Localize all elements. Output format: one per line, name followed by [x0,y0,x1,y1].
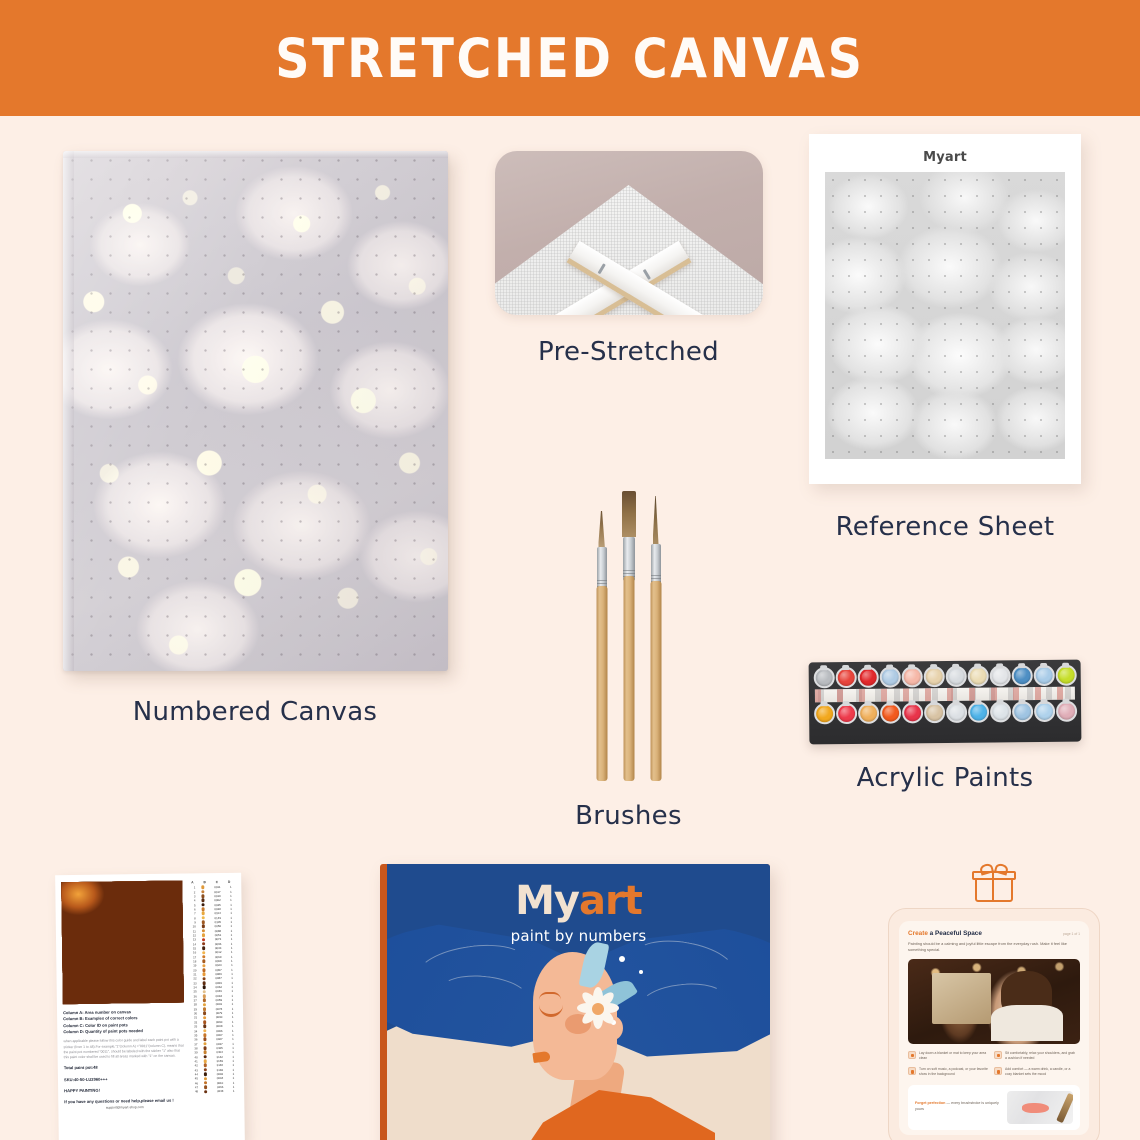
page-title: STRETCHED CANVAS [275,27,864,90]
paint-pot [989,701,1010,722]
box-front-face: Myart paint by numbers [387,864,770,1140]
paint-pot [858,703,879,724]
daisy-center [592,1003,604,1015]
pdf-title-rest: a Peaceful Space [928,930,982,937]
logo-art-text: art [579,878,642,924]
legend-color-swatch [198,929,209,933]
legend-quantity: 1 [229,1089,238,1093]
paint-pot [1033,665,1054,686]
paint-pot [1011,701,1032,722]
product-contents-grid: Numbered Canvas Pre-Stretched Myart Refe… [0,116,1140,1140]
item-numbered-canvas: Numbered Canvas [55,151,455,727]
box-tagline: paint by numbers [387,927,770,945]
paint-row-top [813,665,1077,689]
legend-color-swatch [200,1077,211,1081]
grayscale-pumpkin-art [825,172,1065,459]
paint-pot [1055,701,1076,722]
brush-handle [596,586,607,781]
brush-handle [650,581,661,781]
item-myart-box: Myart paint by numbers [375,864,775,1140]
sku-code: SKU:40-50-LU2960+++ [64,1075,185,1083]
tip-text: Lay down a blanket or mat to keep your a… [919,1051,990,1061]
eyebrow [539,992,561,1000]
legend-color-swatch [197,890,208,894]
paint-swatch [1022,1103,1050,1113]
legend-header-c: C [211,880,223,884]
paint-pot [1011,665,1032,686]
item-pre-stretched: Pre-Stretched [486,151,771,367]
reference-sheet-paper: Myart [809,134,1081,484]
legend-color-swatch [198,959,209,963]
legend-color-swatch [199,977,210,981]
legend-color-swatch [199,985,210,989]
pdf-page-title: Create a Peaceful Space [908,930,982,937]
item-reference-sheet: Myart Reference Sheet [800,134,1090,542]
legend-color-swatch [198,907,209,911]
paint-pot [946,702,967,723]
legend-color-swatch [199,1003,210,1007]
pdf-tips-list: Lay down a blanket or mat to keep your a… [908,1051,1080,1083]
tip-text: Turn on soft music, a podcast, or your f… [919,1067,990,1077]
pre-stretched-photo [495,151,763,315]
pdf-note-thumbnail [1007,1091,1073,1124]
label-reference-sheet: Reference Sheet [800,512,1090,542]
color-card-paper: Column A: Area number on canvas Column B… [55,873,245,1140]
legend-color-swatch [198,972,209,976]
header-banner: STRETCHED CANVAS [0,0,1140,116]
legend-header-row: A B C D [186,880,235,885]
legend-color-swatch [200,1068,211,1072]
legend-color-swatch [197,894,208,898]
item-acrylic-paints: Acrylic Paints [800,661,1090,793]
legend-header-b: B [198,880,210,884]
pdf-intro-text: Painting should be a calming and joyful … [908,941,1080,953]
item-pdf-guide: Create a Peaceful Space page 1 of 1 Pain… [878,864,1110,1140]
legend-color-swatch [199,998,210,1002]
legend-color-swatch [198,912,209,916]
paint-tray [809,660,1082,745]
sparkle-dot [619,956,625,962]
myart-logo-text: Myart [825,150,1065,165]
label-brushes: Brushes [486,801,771,831]
legend-color-swatch [199,1020,210,1024]
label-acrylic-paints: Acrylic Paints [800,763,1090,793]
pdf-tip: Turn on soft music, a podcast, or your f… [908,1067,994,1077]
legend-color-swatch [200,1085,211,1089]
paint-pot [857,667,878,688]
staple-icon [642,269,650,280]
legend-color-swatch [199,1038,210,1042]
item-brushes: Brushes [486,496,771,831]
pdf-photo-painter [908,959,1080,1044]
pdf-page-number: page 1 of 1 [1063,932,1080,936]
legend-color-id: 3248 [211,1089,229,1093]
legend-color-swatch [198,951,209,955]
legend-color-swatch [198,955,209,959]
legend-header-a: A [186,880,198,884]
legend-color-swatch [198,942,209,946]
legend-color-swatch [199,1042,210,1046]
legend-color-swatch [198,946,209,950]
color-card-notes: Column A: Area number on canvas Column B… [63,1009,185,1112]
legend-color-swatch [199,990,210,994]
paint-pot [836,703,857,724]
tip-icon [994,1051,1002,1059]
paint-pot [967,702,988,723]
legend-color-swatch [200,1059,211,1063]
paint-pot [880,702,901,723]
legend-color-swatch [199,1012,210,1016]
brush-round-small [596,496,607,781]
pdf-title-accent: Create [908,930,928,937]
legend-color-swatch [200,1081,211,1085]
staple-icon [597,263,605,274]
paint-pot [879,666,900,687]
legend-row: 4832481 [189,1089,238,1094]
brush-ferrule [651,544,661,586]
legend-color-swatch [198,920,209,924]
total-paint-pots: Total paint pot:48 [64,1064,185,1072]
paint-pot [835,667,856,688]
legend-color-swatch [198,925,209,929]
legend-color-swatch [199,1007,210,1011]
legend-area-number: 48 [189,1090,200,1094]
paint-pot [924,702,945,723]
tip-icon [908,1067,916,1075]
brush-liner [650,496,661,781]
pdf-header: Create a Peaceful Space page 1 of 1 [908,930,1080,937]
tip-text: Sit comfortably, relax your shoulders, a… [1005,1051,1076,1061]
paint-pot [813,667,834,688]
pdf-note-text: Forget perfection — every brushstroke is… [915,1101,1001,1112]
legend-rows: 1001112001713001914000215002516002817010… [186,885,238,1094]
legend-color-swatch [197,899,208,903]
pdf-tip: Sit comfortably, relax your shoulders, a… [994,1051,1080,1061]
brush-ferrule [623,537,635,581]
box-logo: Myart paint by numbers [387,881,770,945]
paint-pot [902,702,923,723]
legend-color-swatch [200,1051,211,1055]
pumpkin-reference-photo [61,881,184,1005]
legend-color-swatch [199,994,210,998]
brush-icon [1056,1093,1073,1123]
pdf-note-accent: Forget perfection [915,1101,945,1105]
legend-color-swatch [200,1064,211,1068]
paint-pot [989,665,1010,686]
brush-handle [623,576,634,781]
gift-icon [972,864,1016,902]
legend-color-swatch [198,933,209,937]
paint-pot [1033,701,1054,722]
color-card-legend: A B C D 10011120017130019140002150025160… [186,880,239,1137]
legend-color-swatch [199,1033,210,1037]
paint-pot [945,666,966,687]
paint-pot [814,703,835,724]
legend-color-swatch [199,1029,210,1033]
legend-color-swatch [198,964,209,968]
tip-icon [908,1051,916,1059]
paint-pot [967,666,988,687]
tip-text: Add comfort — a warm drink, a candle, or… [1005,1067,1076,1077]
label-numbered-canvas: Numbered Canvas [55,697,455,727]
brushes-image [569,496,689,781]
legend-color-swatch [199,1025,210,1029]
paint-row-bottom [813,701,1077,725]
color-card-left-column: Column A: Area number on canvas Column B… [61,881,186,1139]
numbered-canvas-image [63,151,448,671]
pdf-guide-page: Create a Peaceful Space page 1 of 1 Pain… [899,921,1089,1135]
legend-color-swatch [199,981,210,985]
legend-color-swatch [198,968,209,972]
paint-pot [923,666,944,687]
legend-header-d: D [223,880,235,884]
pdf-note-box: Forget perfection — every brushstroke is… [908,1085,1080,1130]
daisy-flower-icon [573,984,623,1034]
legend-color-swatch [200,1090,211,1094]
brush-ferrule [597,547,607,591]
logo-my-text: My [515,878,579,924]
box-logo-wordmark: Myart [387,881,770,921]
item-color-card: Column A: Area number on canvas Column B… [35,874,265,1140]
legend-color-swatch [198,903,209,907]
happy-painting: HAPPY PAINTING! [64,1087,185,1095]
label-pre-stretched: Pre-Stretched [486,337,771,367]
canvas-sheen [63,151,448,671]
legend-color-swatch [198,916,209,920]
myart-box-image: Myart paint by numbers [380,864,770,1140]
brush-flat [623,496,634,781]
legend-color-swatch [200,1055,211,1059]
paint-pot [901,666,922,687]
easel [932,973,990,1024]
paint-pot [1055,665,1076,686]
brush-bristles [653,496,659,544]
note-column-d: Column D: Quantity of paint pots needed [63,1028,184,1036]
color-card-instruction: when applicable please follow this color… [63,1038,184,1061]
brush-bristles [622,491,636,537]
gift-ribbon-part [992,871,994,902]
legend-color-swatch [197,886,208,890]
pdf-tip: Lay down a blanket or mat to keep your a… [908,1051,994,1061]
pdf-guide-card: Create a Peaceful Space page 1 of 1 Pain… [888,908,1100,1140]
tip-icon [994,1067,1002,1075]
legend-color-swatch [199,1016,210,1020]
legend-color-swatch [198,938,209,942]
legend-color-swatch [200,1046,211,1050]
painter-shirt [991,1005,1063,1041]
legend-color-swatch [200,1072,211,1076]
pdf-tip: Add comfort — a warm drink, a candle, or… [994,1067,1080,1077]
brush-bristles [598,511,605,549]
paint-id-strip [815,687,1075,703]
sparkle-dot [639,970,643,974]
